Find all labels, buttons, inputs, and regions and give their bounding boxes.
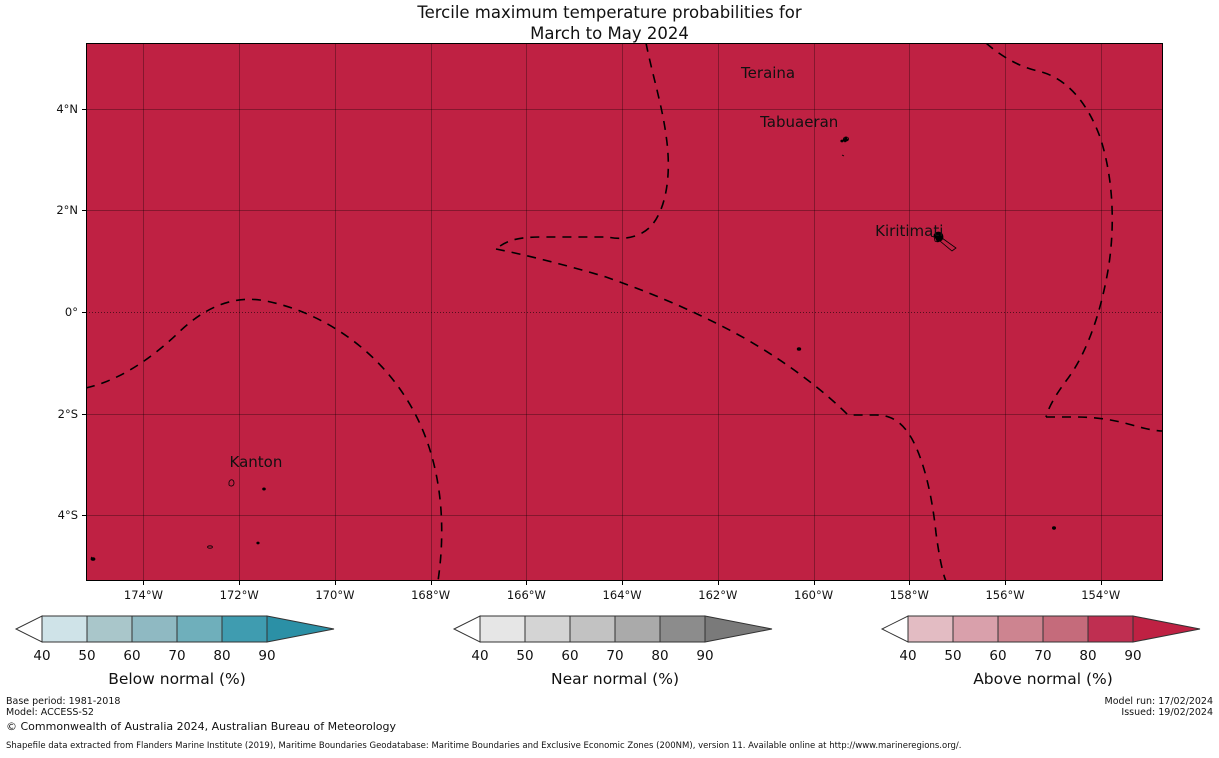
colorbar-swatch[interactable] — [1088, 616, 1133, 642]
x-tickmark — [526, 581, 527, 585]
colorbar-above-normal-ticks: 405060708090 — [878, 648, 1208, 668]
island-label-kiritimati: Kiritimati — [875, 222, 943, 240]
colorbar-swatch[interactable] — [87, 616, 132, 642]
y-tickmark — [82, 414, 86, 415]
colorbar-tick-label: 40 — [899, 648, 916, 664]
x-tickmark — [1101, 581, 1102, 585]
x-axis-label: 174°W — [124, 588, 163, 602]
island-label-kanton: Kanton — [230, 453, 283, 471]
colorbar-below-normal-ticks: 405060708090 — [12, 648, 342, 668]
shapefile-attribution-text: Shapefile data extracted from Flanders M… — [6, 741, 962, 751]
colorbar-above-normal-title: Above normal (%) — [878, 670, 1208, 688]
x-tickmark — [335, 581, 336, 585]
y-axis-label: 2°S — [24, 407, 78, 421]
x-axis-label: 166°W — [507, 588, 546, 602]
colorbar-tick-label: 90 — [1124, 648, 1141, 664]
colorbar-swatch[interactable] — [132, 616, 177, 642]
x-axis-label: 162°W — [698, 588, 737, 602]
colorbar-swatch[interactable] — [525, 616, 570, 642]
colorbar-tick-label: 70 — [168, 648, 185, 664]
colorbar-above-normal[interactable]: 405060708090 Above normal (%) — [878, 614, 1208, 688]
base-period-text: Base period: 1981-2018 — [6, 696, 120, 708]
colorbar-swatch[interactable] — [953, 616, 998, 642]
colorbar-tick-label: 40 — [471, 648, 488, 664]
model-text: Model: ACCESS-S2 — [6, 707, 94, 719]
island-label-tabuaeran: Tabuaeran — [760, 113, 838, 131]
y-tickmark — [82, 210, 86, 211]
y-tickmark — [82, 109, 86, 110]
colorbar-near-normal-swatches[interactable] — [450, 614, 780, 648]
colorbar-swatch[interactable] — [998, 616, 1043, 642]
colorbar-tick-label: 70 — [606, 648, 623, 664]
colorbar-tick-label: 60 — [561, 648, 578, 664]
colorbar-tick-label: 60 — [123, 648, 140, 664]
colorbar-under-arrow — [882, 616, 908, 642]
colorbar-tick-label: 80 — [1079, 648, 1096, 664]
copyright-text: © Commonwealth of Australia 2024, Austra… — [6, 720, 396, 733]
colorbar-tick-label: 40 — [33, 648, 50, 664]
y-axis-label: 4°S — [24, 508, 78, 522]
colorbar-swatch[interactable] — [615, 616, 660, 642]
colorbar-swatch[interactable] — [480, 616, 525, 642]
x-tickmark — [239, 581, 240, 585]
eez-boundary-lines — [86, 43, 1163, 581]
y-axis-label: 4°N — [24, 102, 78, 116]
x-axis-label: 168°W — [411, 588, 450, 602]
colorbar-tick-label: 90 — [696, 648, 713, 664]
colorbar-tick-label: 50 — [78, 648, 95, 664]
colorbar-tick-label: 70 — [1034, 648, 1051, 664]
title-line-1: Tercile maximum temperature probabilitie… — [0, 2, 1219, 23]
x-tickmark — [718, 581, 719, 585]
colorbar-below-normal[interactable]: 405060708090 Below normal (%) — [12, 614, 342, 688]
y-axis-label: 0° — [24, 305, 78, 319]
y-axis-label: 2°N — [24, 203, 78, 217]
x-axis-label: 160°W — [794, 588, 833, 602]
x-tickmark — [909, 581, 910, 585]
x-axis-label: 154°W — [1081, 588, 1120, 602]
x-axis-label: 170°W — [315, 588, 354, 602]
x-tickmark — [1005, 581, 1006, 585]
colorbar-swatch[interactable] — [908, 616, 953, 642]
colorbar-near-normal-ticks: 405060708090 — [450, 648, 780, 668]
model-run-text: Model run: 17/02/2024 — [1105, 696, 1213, 708]
x-axis-label: 172°W — [220, 588, 259, 602]
colorbar-near-normal-title: Near normal (%) — [450, 670, 780, 688]
colorbar-below-normal-title: Below normal (%) — [12, 670, 342, 688]
colorbar-near-normal[interactable]: 405060708090 Near normal (%) — [450, 614, 780, 688]
map-vectors — [86, 43, 1163, 581]
x-axis-label: 158°W — [890, 588, 929, 602]
x-tickmark — [814, 581, 815, 585]
island-outlines — [91, 137, 1056, 560]
page-title: Tercile maximum temperature probabilitie… — [0, 2, 1219, 44]
x-axis-label: 164°W — [603, 588, 642, 602]
colorbar-swatch[interactable] — [660, 616, 705, 642]
colorbar-swatch[interactable] — [570, 616, 615, 642]
title-line-2: March to May 2024 — [0, 23, 1219, 44]
colorbar-tick-label: 50 — [944, 648, 961, 664]
colorbar-tick-label: 50 — [516, 648, 533, 664]
colorbar-tick-label: 60 — [989, 648, 1006, 664]
colorbar-under-arrow — [454, 616, 480, 642]
colorbar-above-normal-swatches[interactable] — [878, 614, 1208, 648]
colorbar-swatch[interactable] — [42, 616, 87, 642]
colorbar-over-arrow — [705, 616, 772, 642]
y-tickmark — [82, 312, 86, 313]
colorbar-swatch[interactable] — [177, 616, 222, 642]
x-tickmark — [431, 581, 432, 585]
colorbar-over-arrow — [1133, 616, 1200, 642]
y-tickmark — [82, 515, 86, 516]
island-label-teraina: Teraina — [741, 64, 795, 82]
x-tickmark — [622, 581, 623, 585]
colorbar-tick-label: 80 — [651, 648, 668, 664]
x-tickmark — [143, 581, 144, 585]
colorbar-swatch[interactable] — [222, 616, 267, 642]
colorbar-tick-label: 90 — [258, 648, 275, 664]
map-panel[interactable]: TerainaTabuaeranKiritimatiKanton — [86, 43, 1163, 581]
issued-text: Issued: 19/02/2024 — [1121, 707, 1213, 719]
x-axis-label: 156°W — [985, 588, 1024, 602]
colorbar-swatch[interactable] — [1043, 616, 1088, 642]
colorbar-under-arrow — [16, 616, 42, 642]
colorbar-below-normal-swatches[interactable] — [12, 614, 342, 648]
colorbar-tick-label: 80 — [213, 648, 230, 664]
colorbar-over-arrow — [267, 616, 334, 642]
